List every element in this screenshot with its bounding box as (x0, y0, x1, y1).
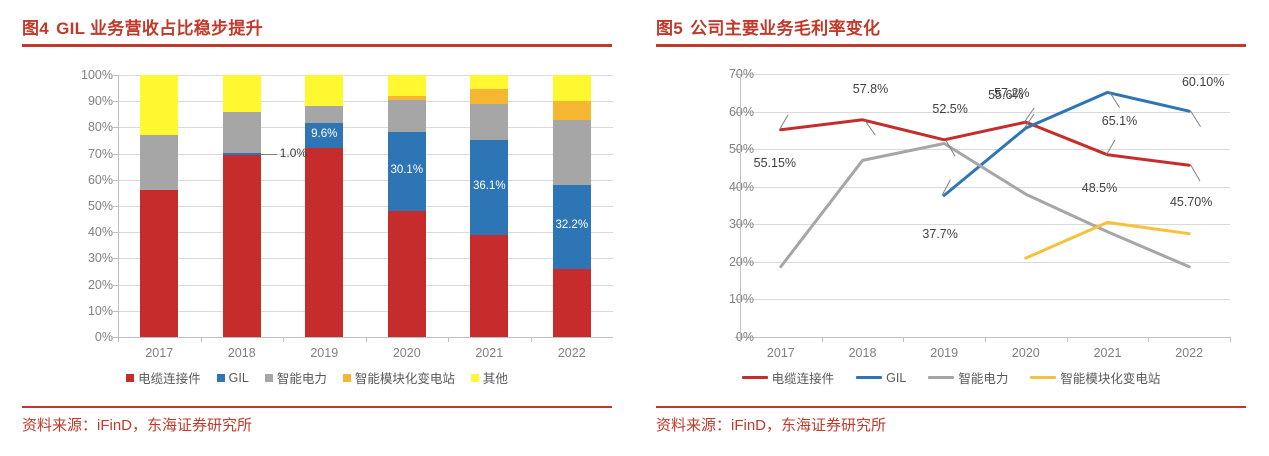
bar-segment-label: 32.2% (553, 219, 591, 231)
callout-leader (261, 154, 277, 155)
bar-segment (470, 89, 508, 103)
x-tick (366, 337, 367, 342)
figure-5-panel: 图5公司主要业务毛利率变化 0%10%20%30%40%50%60%70%201… (656, 0, 1268, 456)
figure-4-title: 图4GIL 业务营收占比稳步提升 (22, 14, 263, 39)
bar-segment: 32.2% (553, 185, 591, 269)
figure-4-plot-area: 0%10%20%30%40%50%60%70%80%90%100%2017201… (58, 60, 618, 360)
bar-segment (553, 101, 591, 119)
bar-segment (388, 75, 426, 96)
legend-item-0: 电缆连接件 (126, 368, 201, 387)
stacked-bar (223, 75, 261, 337)
figure-4-title-text: GIL 业务营收占比稳步提升 (56, 19, 263, 38)
y-axis-label: 70% (88, 147, 113, 161)
bar-segment (223, 153, 261, 156)
figure-5-title-text: 公司主要业务毛利率变化 (690, 19, 880, 38)
y-gridline (118, 127, 613, 128)
bar-segment (553, 75, 591, 101)
legend-label: GIL (886, 371, 906, 385)
legend-line-icon (928, 376, 954, 380)
y-axis-label: 0% (95, 330, 113, 344)
figure-5-title-rule (656, 44, 1246, 47)
y-axis-label: 90% (88, 94, 113, 108)
legend-swatch-icon (265, 374, 273, 382)
y-axis-label: 40% (88, 225, 113, 239)
legend-item-3: 智能模块化变电站 (343, 368, 455, 387)
report-figures-page: 图4GIL 业务营收占比稳步提升 0%10%20%30%40%50%60%70%… (0, 0, 1269, 456)
stacked-bar: 36.1% (470, 75, 508, 337)
legend-line-icon (742, 376, 768, 380)
legend-label: 智能模块化变电站 (355, 368, 455, 387)
x-axis-label: 2022 (558, 346, 586, 360)
bar-segment (223, 75, 261, 112)
legend-label: 电缆连接件 (138, 368, 201, 387)
y-gridline (118, 311, 613, 312)
x-axis-label: 2020 (393, 346, 421, 360)
data-label: 60.10% (1182, 75, 1224, 89)
legend-label: GIL (229, 371, 249, 385)
legend-swatch-icon (217, 374, 225, 382)
y-axis-label: 10% (88, 304, 113, 318)
y-gridline (118, 232, 613, 233)
callout-label: 1.0% (280, 146, 307, 160)
data-label: 37.7% (922, 227, 957, 241)
figure-4-legend: 电缆连接件GIL智能电力智能模块化变电站其他 (22, 368, 612, 387)
legend-item-4: 其他 (471, 368, 508, 387)
bar-segment (305, 148, 343, 337)
x-axis-label: 2017 (145, 346, 173, 360)
legend-label: 电缆连接件 (772, 368, 835, 387)
data-label: 45.70% (1170, 195, 1212, 209)
bar-segment (140, 75, 178, 135)
x-tick (448, 337, 449, 342)
bar-segment (140, 190, 178, 337)
y-axis-label: 100% (81, 68, 113, 82)
legend-item-2: 智能电力 (928, 368, 1008, 387)
x-axis-label: 2018 (228, 346, 256, 360)
legend-line-icon (856, 376, 882, 380)
line-series-智能模块化变电站 (1026, 222, 1189, 258)
figure-5-title: 图5公司主要业务毛利率变化 (656, 14, 880, 39)
y-axis-line (118, 75, 119, 337)
bar-segment (305, 75, 343, 106)
legend-label: 智能电力 (277, 368, 327, 387)
stacked-bar (140, 75, 178, 337)
figure-5-plot-area: 0%10%20%30%40%50%60%70%20172018201920202… (674, 60, 1254, 360)
legend-label: 其他 (483, 368, 508, 387)
line-series-GIL (944, 92, 1189, 195)
y-gridline (118, 101, 613, 102)
bar-segment (553, 120, 591, 185)
y-gridline (118, 285, 613, 286)
figure-4-panel: 图4GIL 业务营收占比稳步提升 0%10%20%30%40%50%60%70%… (22, 0, 634, 456)
stacked-bar: 32.2% (553, 75, 591, 337)
figure-4-number: 图4 (22, 19, 49, 38)
y-gridline (118, 258, 613, 259)
bar-segment (388, 96, 426, 100)
bar-segment-label: 30.1% (388, 164, 426, 176)
data-label: 55.15% (754, 156, 796, 170)
bar-segment (388, 211, 426, 337)
x-tick (201, 337, 202, 342)
bar-segment: 36.1% (470, 140, 508, 235)
bar-segment (553, 269, 591, 337)
y-gridline (118, 206, 613, 207)
bar-segment (470, 235, 508, 337)
x-tick (283, 337, 284, 342)
y-axis-label: 30% (88, 251, 113, 265)
legend-swatch-icon (471, 374, 479, 382)
y-axis-label: 80% (88, 120, 113, 134)
legend-item-0: 电缆连接件 (742, 368, 835, 387)
figure-4-source-rule (22, 406, 612, 408)
x-tick (531, 337, 532, 342)
x-tick (118, 337, 119, 342)
data-label: 65.1% (1102, 114, 1137, 128)
legend-swatch-icon (126, 374, 134, 382)
figure-5-number: 图5 (656, 19, 683, 38)
legend-item-1: GIL (217, 371, 249, 385)
data-label: 52.5% (932, 102, 967, 116)
y-gridline (118, 154, 613, 155)
bar-segment (305, 106, 343, 123)
legend-item-2: 智能电力 (265, 368, 327, 387)
legend-label: 智能电力 (958, 368, 1008, 387)
legend-line-icon (1030, 376, 1056, 380)
bar-segment (140, 135, 178, 190)
legend-item-1: GIL (856, 371, 906, 385)
data-label: 48.5% (1082, 181, 1117, 195)
legend-label: 智能模块化变电站 (1060, 368, 1160, 387)
bar-segment: 9.6% (305, 123, 343, 148)
figure-5-source: 资料来源：iFinD，东海证券研究所 (656, 414, 886, 435)
y-gridline (118, 75, 613, 76)
figure-5-legend: 电缆连接件GIL智能电力智能模块化变电站 (656, 368, 1246, 387)
bar-segment: 30.1% (388, 132, 426, 211)
x-axis-label: 2021 (475, 346, 503, 360)
bar-segment (223, 112, 261, 153)
figure-4-title-rule (22, 44, 612, 47)
y-gridline (118, 180, 613, 181)
bar-segment (388, 100, 426, 132)
bar-segment (470, 104, 508, 141)
y-axis-label: 50% (88, 199, 113, 213)
legend-swatch-icon (343, 374, 351, 382)
bar-segment-label: 36.1% (470, 180, 508, 192)
bar-segment (470, 75, 508, 89)
figure-5-source-rule (656, 406, 1246, 408)
bar-segment (223, 155, 261, 337)
data-label: 55.6% (988, 88, 1023, 102)
y-axis-label: 60% (88, 173, 113, 187)
stacked-bar: 9.6% (305, 75, 343, 337)
figure-4-source: 资料来源：iFinD，东海证券研究所 (22, 414, 252, 435)
x-axis-label: 2019 (310, 346, 338, 360)
legend-item-3: 智能模块化变电站 (1030, 368, 1160, 387)
stacked-bar: 30.1% (388, 75, 426, 337)
y-axis-label: 20% (88, 278, 113, 292)
data-label: 57.8% (853, 82, 888, 96)
bar-segment-label: 9.6% (305, 128, 343, 140)
